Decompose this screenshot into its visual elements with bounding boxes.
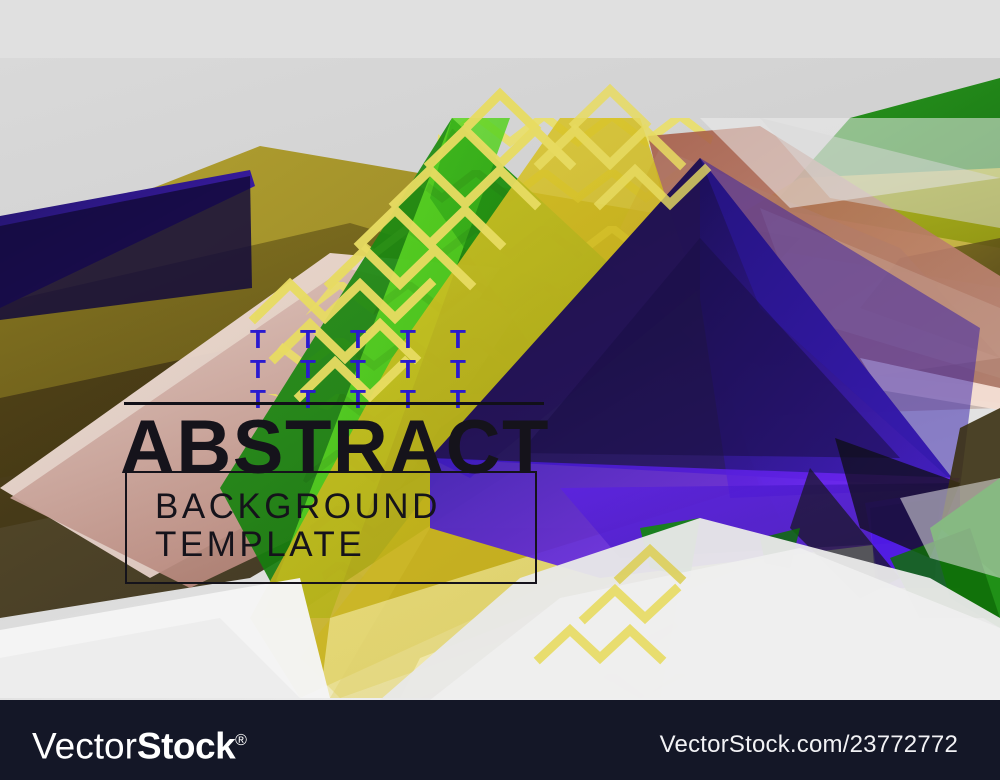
poster-page: TTT TT TTT TT TTT TT ABSTRACT BACKGROUND… xyxy=(0,0,1000,780)
svg-text:T: T xyxy=(400,354,416,384)
svg-text:T: T xyxy=(250,384,266,414)
svg-text:T: T xyxy=(400,384,416,414)
registered-trademark-icon: ® xyxy=(235,732,247,749)
svg-text:T: T xyxy=(300,324,316,354)
logo-text-bold: Stock xyxy=(137,725,235,766)
svg-text:T: T xyxy=(250,354,266,384)
artboard: TTT TT TTT TT TTT TT xyxy=(0,58,1000,700)
svg-text:T: T xyxy=(450,354,466,384)
svg-text:T: T xyxy=(350,324,366,354)
vectorstock-url: VectorStock.com/23772772 xyxy=(660,731,958,759)
svg-text:T: T xyxy=(450,384,466,414)
artwork-preview: TTT TT TTT TT TTT TT ABSTRACT BACKGROUND… xyxy=(0,0,1000,700)
abstract-geometric-artwork: TTT TT TTT TT TTT TT xyxy=(0,58,1000,700)
svg-text:T: T xyxy=(300,384,316,414)
svg-text:T: T xyxy=(350,354,366,384)
svg-text:T: T xyxy=(250,324,266,354)
logo-text-light: Vector xyxy=(32,725,137,766)
svg-text:T: T xyxy=(400,324,416,354)
svg-text:T: T xyxy=(350,384,366,414)
svg-text:T: T xyxy=(300,354,316,384)
watermark-footer: VectorStock® VectorStock.com/23772772 xyxy=(0,700,1000,780)
vectorstock-logo: VectorStock® xyxy=(32,721,247,766)
svg-text:T: T xyxy=(450,324,466,354)
